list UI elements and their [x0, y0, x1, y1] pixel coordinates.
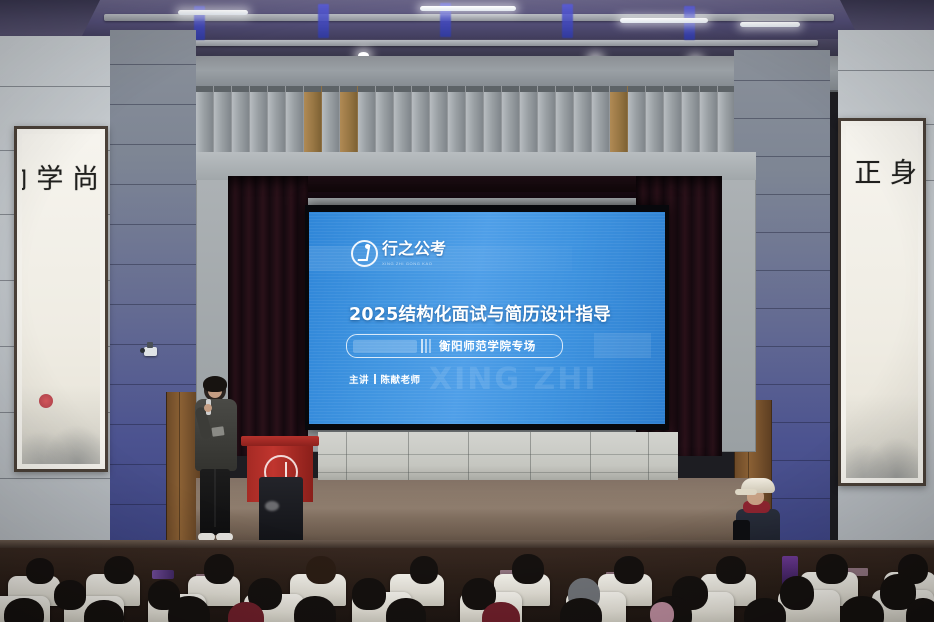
calligraphy-scroll-right: 身正为范: [838, 118, 926, 486]
led-screen[interactable]: XING ZHI 行之公考 XING ZHI GONG KAO 2025结构化面…: [309, 212, 665, 424]
ceiling-drop-fixture: [562, 4, 573, 38]
right-side-wall: 身正为范: [734, 0, 934, 560]
red-sun-motif: [39, 394, 53, 408]
ceiling-drop-fixture: [684, 6, 695, 40]
presenter-name: 陈献老师: [381, 372, 421, 386]
pill-block-decoration: [353, 340, 417, 353]
ink-landscape: [846, 394, 918, 478]
slide-presenter-line: 主讲 陈献老师: [349, 372, 421, 386]
pill-bars-decoration: [421, 339, 431, 353]
audience-seating: [0, 540, 934, 622]
brand-emblem-icon: [351, 240, 378, 267]
presenter-label: 主讲: [349, 372, 369, 386]
ceiling-beam: [118, 40, 818, 46]
ceiling-drop-fixture: [318, 4, 329, 38]
brand-name: 行之公考: [382, 239, 446, 258]
ink-landscape: [22, 385, 100, 464]
slide-subtitle-text: 衡阳师范学院专场: [439, 338, 536, 354]
stage-equipment-case: [259, 477, 303, 545]
scroll-right-text: 身正为范: [846, 158, 918, 190]
calligraphy-scroll-left: 尚学向善: [14, 126, 108, 472]
left-side-wall: 尚学向善: [0, 0, 200, 560]
brand-name-pinyin: XING ZHI GONG KAO: [382, 261, 446, 266]
lecture-hall-photo: 尚学向善: [0, 0, 934, 622]
brand-logo: 行之公考 XING ZHI GONG KAO: [351, 240, 446, 267]
ceiling-beam: [104, 14, 834, 21]
slide-watermark: XING ZHI: [429, 362, 598, 397]
podium-top: [241, 436, 319, 446]
slide-subtitle-pill: 衡阳师范学院专场: [346, 334, 563, 358]
ceiling-light-tube: [620, 18, 708, 23]
slide-title: 2025结构化面试与简历设计指导: [349, 301, 611, 326]
scroll-left-text: 尚学向善: [22, 164, 100, 196]
stage-front-tiles: [318, 432, 678, 480]
audience-railing: [0, 540, 934, 548]
presenter-divider: [374, 374, 376, 384]
on-stage-presenter: [190, 377, 242, 547]
security-camera-icon: [144, 347, 157, 356]
presentation-slide: XING ZHI 行之公考 XING ZHI GONG KAO 2025结构化面…: [309, 212, 665, 424]
side-monitor: [152, 570, 174, 579]
ceiling-light-tube: [420, 6, 516, 11]
